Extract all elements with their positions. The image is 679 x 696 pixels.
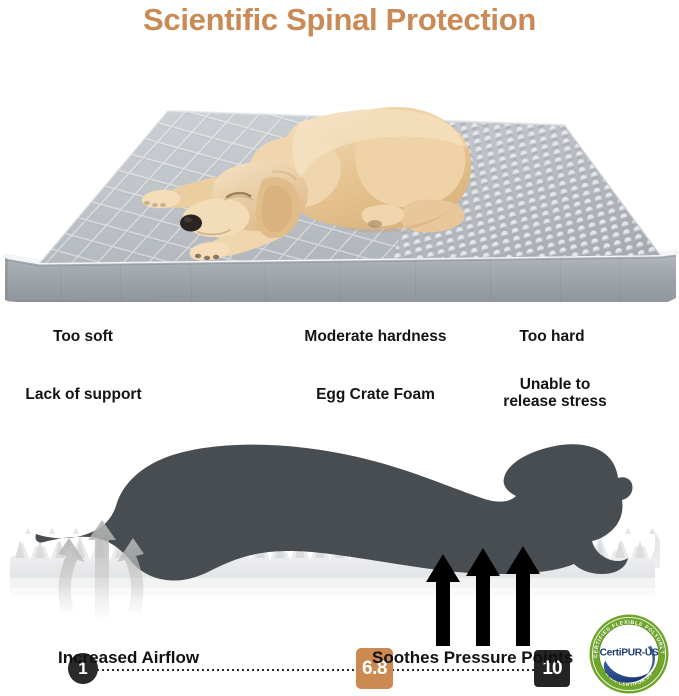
scale-left-bottom-label: Lack of support <box>6 386 161 403</box>
scale-right-bottom-label: Unable to release stress <box>482 376 628 411</box>
scale-middle-bottom-label: Egg Crate Foam <box>288 386 463 403</box>
scale-right-bottom-line2: release stress <box>482 393 628 410</box>
pressure-point-arrows <box>426 546 540 646</box>
scale-right-bottom-line1: Unable to <box>482 376 628 393</box>
certipur-us-logo: CONTAINS CERTIFIED FLEXIBLE POLYURETHANE… <box>587 612 671 696</box>
infographic-page: Scientific Spinal Protection <box>0 0 679 696</box>
hero-product-photo <box>0 50 679 302</box>
scale-left-top-label: Too soft <box>18 328 148 346</box>
airflow-caption: Increased Airflow <box>58 648 199 668</box>
hardness-scale: Too soft Moderate hardness Too hard 1 6.… <box>0 312 679 422</box>
certipur-brand-text: CertiPUR-US <box>600 648 659 659</box>
certipur-registered-mark: ® <box>661 647 664 651</box>
page-title: Scientific Spinal Protection <box>0 2 679 38</box>
pressure-points-caption: Soothes Pressure Points <box>372 648 573 668</box>
scale-middle-top-label: Moderate hardness <box>283 328 468 346</box>
scale-right-top-label: Too hard <box>487 328 617 346</box>
